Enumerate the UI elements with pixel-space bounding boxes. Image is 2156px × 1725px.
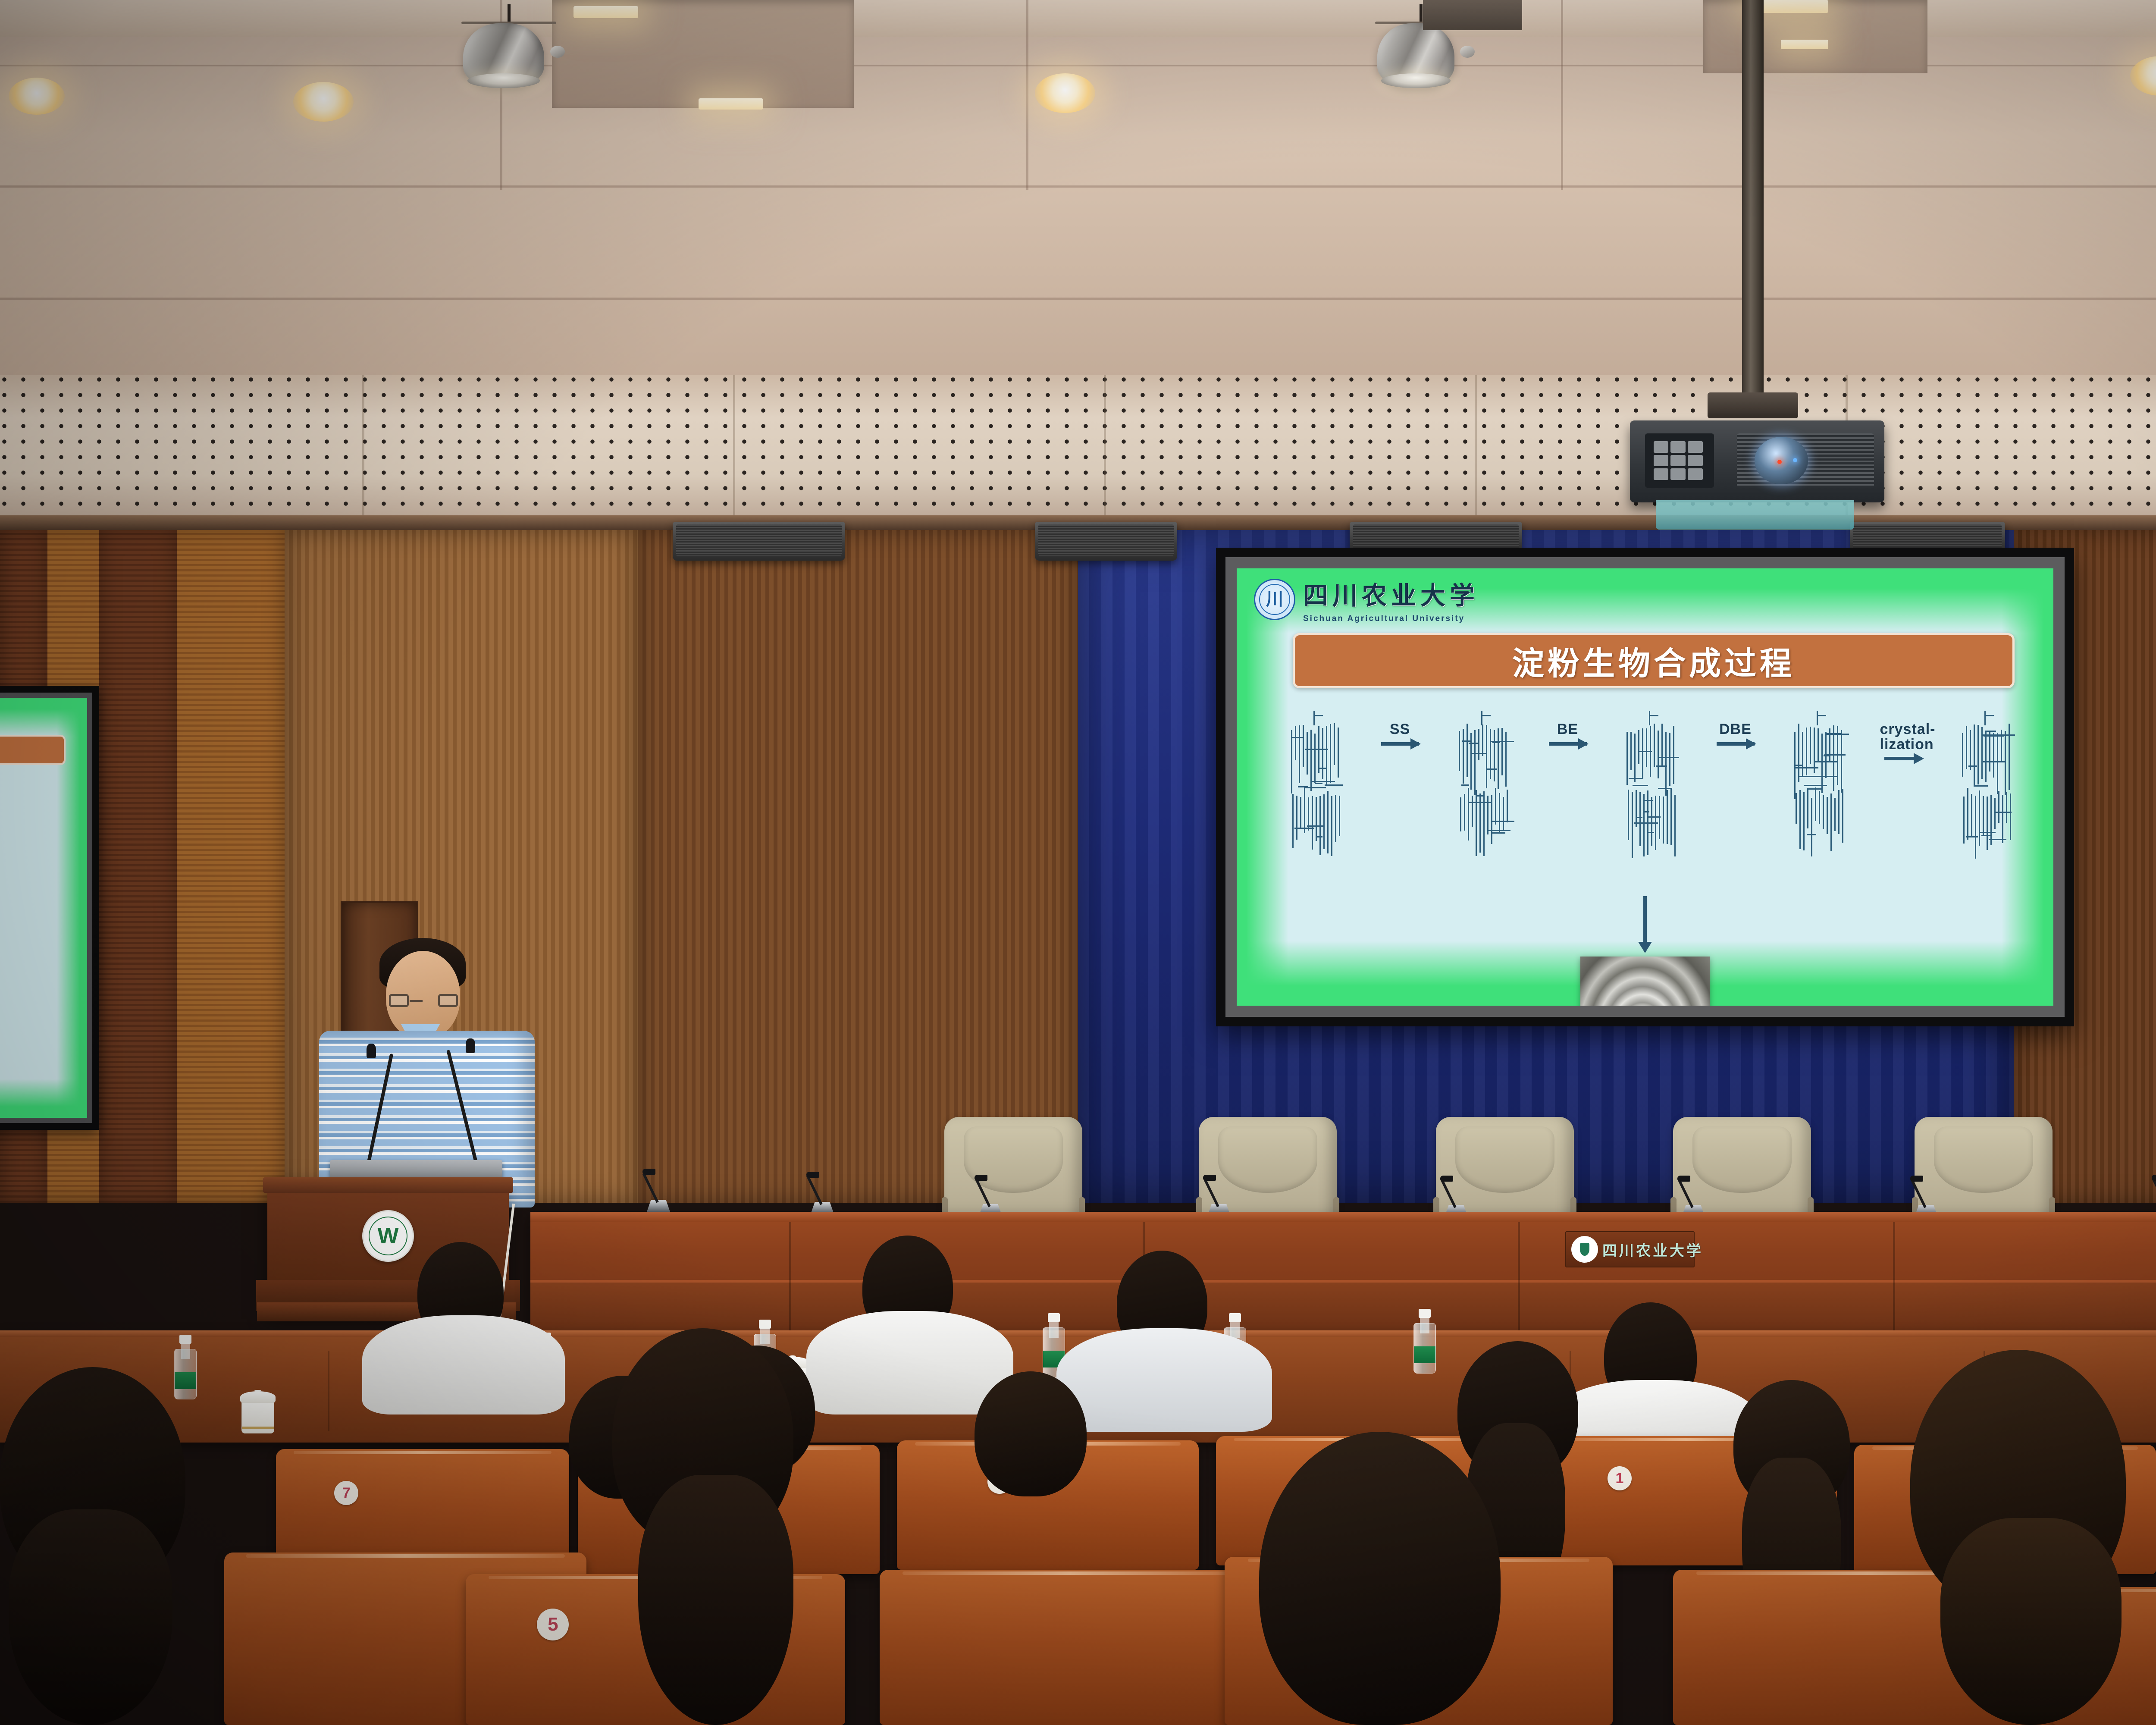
audience-seat[interactable] [880,1570,1259,1725]
water-bottle[interactable] [1413,1309,1436,1374]
downlight [1035,73,1095,113]
table-microphone[interactable] [1445,1170,1470,1217]
pathway-step-dbe: DBE [1712,711,1759,746]
side-monitor-title-bar [0,735,66,765]
audience-shoulders [806,1311,1013,1414]
slide-title: 淀粉生物合成过程 [1512,638,1795,684]
glycan-cluster-2 [1456,711,1511,853]
table-microphone[interactable] [811,1167,837,1214]
down-arrow-icon [1643,896,1647,944]
glycan-cluster-3 [1624,711,1679,853]
wall-panel-wood-dark [99,530,177,1203]
step-label: crystal- lization [1880,722,1927,752]
podium-microphone-head [466,1038,475,1053]
ceiling-vent [1423,0,1522,30]
downlight [9,78,65,115]
table-microphone[interactable] [647,1164,673,1212]
audience-head [975,1371,1087,1496]
audience-head-foreground [1259,1432,1501,1725]
glycan-cluster-1 [1288,711,1344,853]
arrow-icon [1549,742,1587,746]
ceiling-seam [0,298,2156,300]
step-label: DBE [1712,722,1759,737]
projection-screen: 川 四川农业大学 Sichuan Agricultural University… [1216,548,2074,1026]
arrow-icon [1717,742,1755,746]
podium-microphone-head [367,1044,376,1058]
pathway-step-ss: SS [1377,711,1423,746]
ceiling-projector [1630,420,1884,502]
stage-spotlight [457,4,561,185]
audience-shoulders [362,1315,565,1414]
strip-light [573,6,638,18]
plaque-text: 四川农业大学 [1602,1239,1703,1260]
side-monitor-slide [0,698,87,1118]
table-microphone[interactable] [1207,1169,1233,1216]
water-bottle[interactable] [174,1335,197,1399]
pathway-diagram: SS BE DBE crystal- lizatio [1288,711,2015,879]
glycan-cluster-5 [1959,711,2015,853]
stage-spotlight [1371,4,1470,185]
seat-number: 1 [1608,1466,1632,1490]
table-microphone[interactable] [1682,1170,1708,1217]
seat-number: 5 [537,1609,569,1640]
slide-university-branding: 川 四川农业大学 Sichuan Agricultural University [1254,575,1479,624]
ceiling-seam [1561,0,1563,190]
table-microphone[interactable] [979,1169,1005,1216]
downlight [293,82,354,122]
projector-bracket [1708,392,1798,418]
auditorium-scene: 川 四川农业大学 Sichuan Agricultural University… [0,0,2156,1725]
step-label: SS [1377,722,1423,737]
plaque-seal-icon [1571,1236,1598,1263]
audience-ponytail [638,1475,793,1725]
podium-emblem-icon: W [362,1210,414,1262]
starch-granule-micrograph [1580,957,1710,1006]
audience-ponytail [1940,1518,2122,1725]
ceiling-seam [0,185,2156,188]
podium-emblem-letter: W [377,1225,398,1247]
glycan-cluster-4 [1792,711,1847,853]
projector-underside [1656,500,1854,530]
presentation-slide: 川 四川农业大学 Sichuan Agricultural University… [1237,568,2053,1006]
arrow-icon [1381,742,1419,746]
wall-panel-vertical [638,530,1078,1203]
wall-speaker [1035,522,1177,561]
arrow-icon [1884,757,1922,760]
university-name-cn: 四川农业大学 [1303,575,1479,612]
tea-cup[interactable] [241,1389,274,1433]
projector-mount-pole [1742,0,1764,410]
university-seal-icon: 川 [1254,579,1295,620]
university-name-en: Sichuan Agricultural University [1303,614,1479,624]
seal-mark: 川 [1266,591,1283,608]
audience-shoulders [1056,1328,1272,1432]
step-label: BE [1545,722,1591,737]
glasses-icon [389,994,458,1009]
seat-number: 7 [334,1481,358,1505]
strip-light [1781,40,1828,49]
slide-title-bar: 淀粉生物合成过程 [1293,633,2015,688]
head-table-plaque: 四川农业大学 [1565,1231,1695,1267]
strip-light [699,98,763,110]
side-confidence-monitor [0,686,99,1130]
pathway-step-be: BE [1545,711,1591,746]
pathway-step-crystallization: crystal- lization [1880,711,1927,760]
ceiling-seam [1026,0,1028,190]
audience-ponytail [9,1509,172,1725]
table-microphone[interactable] [1915,1170,1940,1217]
wall-speaker [673,522,845,561]
